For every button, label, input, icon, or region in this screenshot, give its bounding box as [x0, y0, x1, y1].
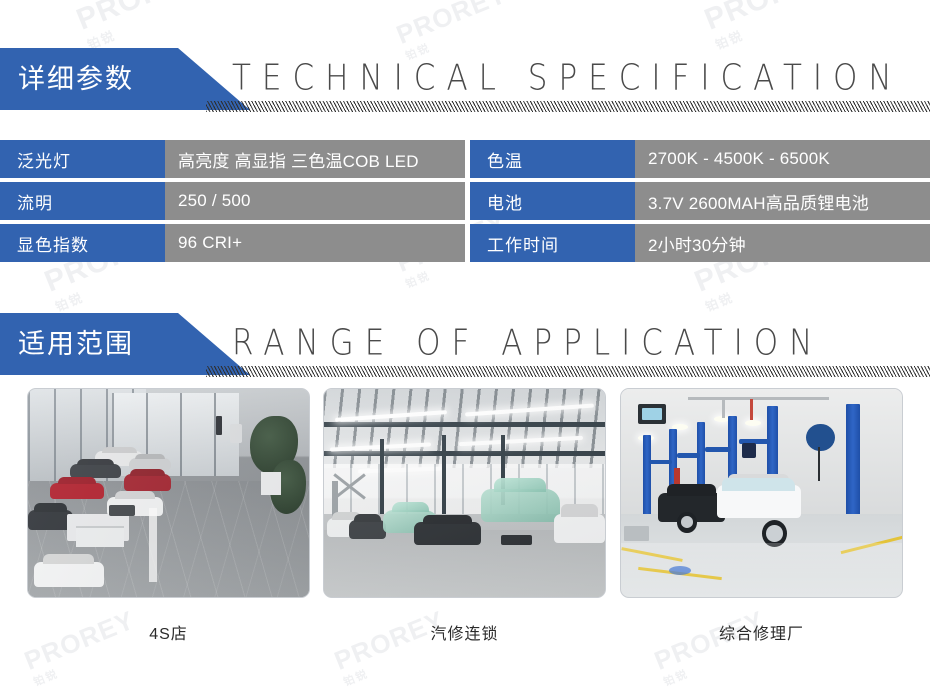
watermark: PROREY铂锐 — [330, 605, 454, 690]
spec-value: 高亮度 高显指 三色温COB LED — [165, 140, 465, 178]
spec-label: 显色指数 — [0, 224, 165, 262]
spec-value: 3.7V 2600MAH高品质锂电池 — [635, 182, 930, 220]
spec-value: 96 CRI+ — [165, 224, 465, 262]
application-image-repair-chain[interactable] — [323, 388, 606, 598]
spec-label: 色温 — [470, 140, 635, 178]
section-header-technical-specification: 详细参数 TECHNICAL SPECIFICATION — [0, 48, 930, 110]
table-row: 显色指数 96 CRI+ 工作时间 2小时30分钟 — [0, 224, 930, 262]
workshop-photo — [324, 389, 605, 597]
spec-label: 工作时间 — [470, 224, 635, 262]
service-bay-photo — [621, 389, 902, 597]
product-spec-page: PROREY铂锐 PROREY铂锐 PROREY铂锐 PROREY铂锐 PROR… — [0, 0, 930, 691]
specification-table: 泛光灯 高亮度 高显指 三色温COB LED 色温 2700K - 4500K … — [0, 140, 930, 266]
table-row: 泛光灯 高亮度 高显指 三色温COB LED 色温 2700K - 4500K … — [0, 140, 930, 178]
spec-value: 2小时30分钟 — [635, 224, 930, 262]
application-caption: 综合修理厂 — [620, 620, 903, 644]
showroom-photo — [28, 389, 309, 597]
hatch-underline — [206, 366, 930, 377]
watermark: PROREY铂锐 — [72, 0, 214, 53]
section-header-range-of-application: 适用范围 RANGE OF APPLICATION — [0, 313, 930, 375]
section-title-cn: 详细参数 — [18, 48, 134, 110]
spec-label: 电池 — [470, 182, 635, 220]
table-row: 流明 250 / 500 电池 3.7V 2600MAH高品质锂电池 — [0, 182, 930, 220]
hatch-underline — [206, 101, 930, 112]
application-image-general-repair-shop[interactable] — [620, 388, 903, 598]
spec-label: 泛光灯 — [0, 140, 165, 178]
spec-label: 流明 — [0, 182, 165, 220]
spec-value: 250 / 500 — [165, 182, 465, 220]
spec-value: 2700K - 4500K - 6500K — [635, 140, 930, 178]
application-caption: 汽修连锁 — [323, 620, 606, 644]
watermark: PROREY铂锐 — [650, 605, 774, 690]
application-caption: 4S店 — [27, 620, 310, 644]
application-image-4s-store[interactable] — [27, 388, 310, 598]
watermark: PROREY铂锐 — [20, 605, 144, 690]
section-title-cn: 适用范围 — [18, 313, 134, 375]
